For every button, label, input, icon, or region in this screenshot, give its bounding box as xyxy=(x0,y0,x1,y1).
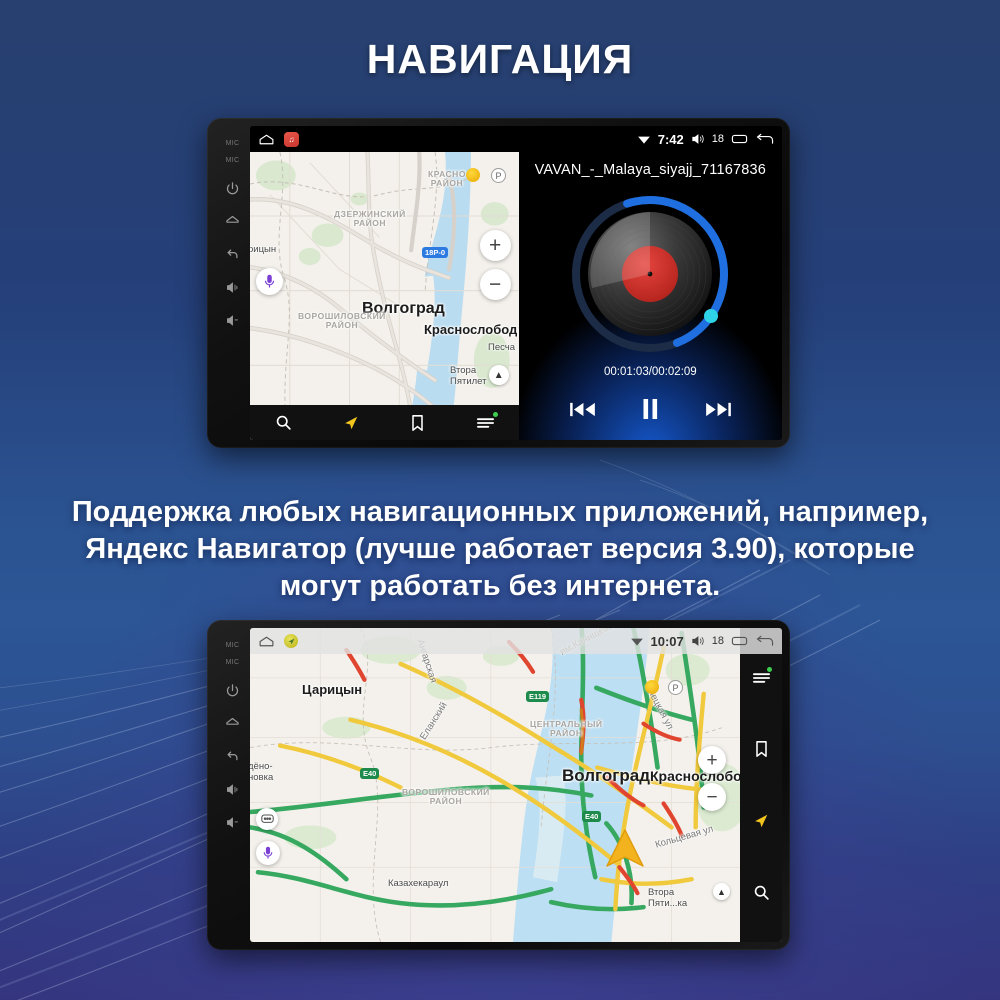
map-canvas xyxy=(250,152,519,440)
parking-icon[interactable]: P xyxy=(491,168,506,183)
wifi-icon xyxy=(637,134,651,145)
compass-icon[interactable]: ▲ xyxy=(489,365,509,385)
mic-label-2: MIC xyxy=(226,659,240,666)
back-icon[interactable] xyxy=(224,748,241,765)
map-pane[interactable]: Волгоград Краснослобод ДЗЕРЖИНСКИЙРАЙОН … xyxy=(250,152,519,440)
device-one-statusbar: ♫ 7:42 18 xyxy=(250,126,782,152)
album-art-area xyxy=(519,188,782,360)
playback-time: 00:01:03/00:02:09 xyxy=(519,366,782,378)
search-icon[interactable] xyxy=(267,410,301,436)
device-one-split-view: Волгоград Краснослобод ДЗЕРЖИНСКИЙРАЙОН … xyxy=(250,152,782,440)
recents-icon[interactable] xyxy=(731,133,748,145)
car-head-unit-device-one: MIC MIC xyxy=(207,118,790,448)
device-two-left-bezel: MIC MIC xyxy=(215,628,250,942)
next-track-button[interactable] xyxy=(698,392,738,426)
power-icon[interactable] xyxy=(224,180,241,197)
volume-level: 18 xyxy=(712,133,724,145)
map-poi-marker[interactable] xyxy=(645,680,659,694)
volume-icon[interactable] xyxy=(691,133,705,145)
music-player-pane[interactable]: VAVAN_-_Malaya_siyajj_71167836 xyxy=(519,152,782,440)
home-icon[interactable] xyxy=(224,715,241,732)
car-head-unit-device-two: MIC MIC xyxy=(207,620,790,950)
compass-icon[interactable]: ▲ xyxy=(713,883,730,900)
map-right-rail xyxy=(740,628,782,942)
map-zoom-in-button[interactable]: + xyxy=(480,230,511,261)
road-badge-e40-south: E40 xyxy=(582,811,601,822)
menu-notification-badge xyxy=(767,667,772,672)
map-zoom-out-button[interactable]: − xyxy=(698,783,726,811)
navigator-app-icon[interactable] xyxy=(284,634,298,648)
microphone-icon[interactable] xyxy=(256,268,283,295)
status-time: 7:42 xyxy=(658,132,684,147)
back-icon[interactable] xyxy=(224,246,241,263)
volume-level: 18 xyxy=(712,635,724,647)
mic-label-1: MIC xyxy=(226,140,240,147)
vinyl-record[interactable] xyxy=(564,188,736,360)
back-icon[interactable] xyxy=(755,635,774,648)
microphone-icon[interactable] xyxy=(256,841,280,865)
device-two-screen: 10:07 18 Во xyxy=(250,628,782,942)
road-badge-e119: E119 xyxy=(526,691,549,702)
device-one-left-bezel: MIC MIC xyxy=(215,126,250,440)
road-badge-e40-west: E40 xyxy=(360,768,379,779)
navigation-arrow-icon[interactable] xyxy=(334,410,368,436)
menu-icon[interactable] xyxy=(468,410,502,436)
volume-down-icon[interactable] xyxy=(224,312,241,329)
mic-label-1: MIC xyxy=(226,642,240,649)
search-icon[interactable] xyxy=(746,879,776,905)
home-icon[interactable] xyxy=(258,133,275,146)
recents-icon[interactable] xyxy=(731,635,748,647)
chat-icon[interactable] xyxy=(256,808,278,830)
track-title: VAVAN_-_Malaya_siyajj_71167836 xyxy=(519,162,782,178)
bookmark-icon[interactable] xyxy=(401,410,435,436)
device-one-screen: ♫ 7:42 18 xyxy=(250,126,782,440)
menu-icon[interactable] xyxy=(746,665,776,691)
bookmark-icon[interactable] xyxy=(746,736,776,762)
traffic-map-canvas[interactable] xyxy=(250,628,782,942)
playback-controls xyxy=(519,392,782,426)
pause-button[interactable] xyxy=(630,392,670,426)
volume-icon[interactable] xyxy=(691,635,705,647)
volume-up-icon[interactable] xyxy=(224,781,241,798)
map-zoom-in-button[interactable]: + xyxy=(698,746,726,774)
wifi-icon xyxy=(630,636,644,647)
map-bottom-toolbar xyxy=(250,405,519,440)
home-icon[interactable] xyxy=(224,213,241,230)
map-poi-marker[interactable] xyxy=(466,168,480,182)
navigation-arrow-icon[interactable] xyxy=(746,808,776,834)
home-icon[interactable] xyxy=(258,635,275,648)
page-caption: Поддержка любых навигационных приложений… xyxy=(50,494,950,605)
menu-notification-badge xyxy=(493,412,498,417)
power-icon[interactable] xyxy=(224,682,241,699)
mic-label-2: MIC xyxy=(226,157,240,164)
status-time: 10:07 xyxy=(651,634,684,649)
volume-up-icon[interactable] xyxy=(224,279,241,296)
road-badge: 18Р-0 xyxy=(422,247,448,258)
music-app-icon[interactable]: ♫ xyxy=(284,132,299,147)
parking-icon[interactable]: P xyxy=(668,680,683,695)
map-zoom-out-button[interactable]: − xyxy=(480,269,511,300)
volume-down-icon[interactable] xyxy=(224,814,241,831)
device-two-statusbar: 10:07 18 xyxy=(250,628,782,654)
page-title: НАВИГАЦИЯ xyxy=(0,36,1000,83)
back-icon[interactable] xyxy=(755,133,774,146)
previous-track-button[interactable] xyxy=(563,392,603,426)
current-position-cursor xyxy=(602,826,648,877)
